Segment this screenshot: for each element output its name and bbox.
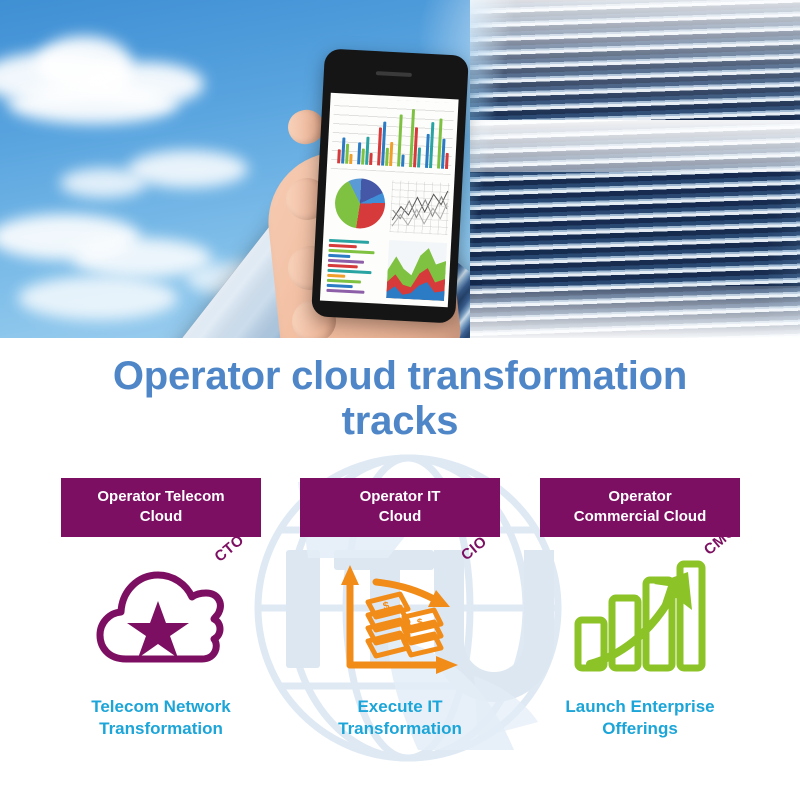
icon-container-telecom <box>41 554 281 684</box>
cloud-star-icon <box>96 563 226 675</box>
icon-container-commercial <box>520 554 760 684</box>
track-caption-it: Execute IT Transformation <box>280 696 520 740</box>
cloud-shape <box>18 276 178 320</box>
track-header-line-2: Cloud <box>67 507 255 527</box>
track-header-line-2: Commercial Cloud <box>546 507 734 527</box>
track-header-line-2: Cloud <box>306 507 494 527</box>
track-caption-line-1: Execute IT <box>280 696 520 718</box>
phone-screen-dashboard <box>320 93 459 307</box>
building-cap-highlight <box>470 120 800 172</box>
content-panel: Operator cloud transformation tracks Ope… <box>0 338 800 800</box>
page-title: Operator cloud transformation tracks <box>0 354 800 444</box>
area-chart-svg <box>386 240 447 301</box>
money-stack-chart-icon: $ $ <box>334 557 466 681</box>
track-header-commercial[interactable]: Operator Commercial Cloud <box>540 478 740 537</box>
track-header-line-1: Operator IT <box>306 487 494 507</box>
track-operator-it-cloud[interactable]: Operator IT Cloud CIO <box>280 478 520 537</box>
track-caption-line-2: Transformation <box>41 718 281 740</box>
track-operator-telecom-cloud[interactable]: Operator Telecom Cloud CTO Telecom Netwo… <box>41 478 281 537</box>
dashboard-bar-chart <box>331 97 455 175</box>
cloud-shape <box>60 168 146 198</box>
track-caption-telecom: Telecom Network Transformation <box>41 696 281 740</box>
track-caption-commercial: Launch Enterprise Offerings <box>520 696 760 740</box>
building-sun-glow <box>470 0 800 120</box>
smartphone <box>311 48 469 323</box>
track-caption-line-2: Offerings <box>520 718 760 740</box>
slide-root: Operator cloud transformation tracks Ope… <box>0 0 800 800</box>
track-caption-line-1: Launch Enterprise <box>520 696 760 718</box>
track-header-line-1: Operator <box>546 487 734 507</box>
track-operator-commercial-cloud[interactable]: Operator Commercial Cloud CMO Laun <box>520 478 760 537</box>
dashboard-line-chart <box>390 180 451 235</box>
track-caption-line-1: Telecom Network <box>41 696 281 718</box>
dashboard-horizontal-bars <box>324 237 383 300</box>
track-header-telecom[interactable]: Operator Telecom Cloud <box>61 478 261 537</box>
track-header-it[interactable]: Operator IT Cloud <box>300 478 500 537</box>
dashboard-pie-chart <box>334 177 387 230</box>
cloud-shape <box>128 150 248 188</box>
track-caption-line-2: Transformation <box>280 718 520 740</box>
line-chart-svg <box>390 180 451 235</box>
cloud-shape <box>8 84 178 124</box>
building-base-fade <box>470 286 800 338</box>
phone-speaker <box>376 71 412 77</box>
page-title-line-2: tracks <box>0 399 800 444</box>
icon-container-it: $ $ <box>280 554 520 684</box>
dashboard-area-chart <box>386 240 447 301</box>
hero-photo <box>0 0 800 338</box>
page-title-line-1: Operator cloud transformation <box>0 354 800 399</box>
track-header-line-1: Operator Telecom <box>67 487 255 507</box>
growth-bar-arrow-icon <box>570 558 710 680</box>
